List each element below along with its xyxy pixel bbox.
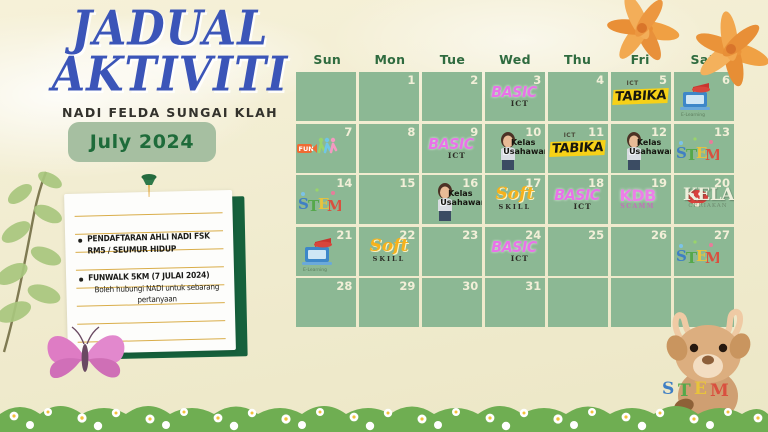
calendar-day-cell-empty: [548, 278, 608, 327]
svg-text:E-Learning: E-Learning: [681, 112, 705, 118]
day-number: 4: [596, 73, 604, 87]
woman-avatar: [612, 130, 656, 170]
mushroom-graphic: [675, 181, 719, 221]
day-number: 12: [651, 125, 667, 139]
calendar-day-cell-13[interactable]: S T E M 13: [674, 124, 734, 173]
calendar-day-cell-2[interactable]: 2: [422, 72, 482, 121]
event-subtitle: SKILL: [363, 255, 415, 263]
weekday-header-sun: Sun: [296, 52, 359, 67]
day-number: 20: [714, 176, 730, 190]
svg-text:M: M: [705, 249, 719, 267]
day-number: 6: [722, 73, 730, 87]
weekday-header-mon: Mon: [359, 52, 422, 67]
calendar-grid: 12BASIC ICT34ICT TABIKA5 E-Learning6 FUN: [296, 72, 734, 327]
note-card: PENDAFTARAN AHLI NADI FSK RM5 / SEUMUR H…: [64, 190, 236, 354]
month-label: July 2024: [90, 131, 194, 153]
day-number: 8: [407, 125, 415, 139]
calendar-day-cell-empty: [674, 278, 734, 327]
calendar-day-cell-28[interactable]: 28: [296, 278, 356, 327]
day-number: 22: [399, 228, 415, 242]
calendar-day-cell-empty: [296, 72, 356, 121]
event-subtitle: ICT: [500, 254, 540, 263]
weekday-header-sat: Sat: [671, 52, 734, 67]
day-number: 9: [470, 125, 478, 139]
event-subtitle: ICT: [500, 99, 540, 108]
calendar-day-cell-31[interactable]: 31: [485, 278, 545, 327]
calendar-day-cell-5[interactable]: ICT TABIKA5: [611, 72, 671, 121]
calendar-day-cell-18[interactable]: BASIC ICT18: [548, 175, 608, 224]
calendar-day-cell-29[interactable]: 29: [359, 278, 419, 327]
day-number: 26: [651, 228, 667, 242]
event-basic-ict: BASIC ICT: [488, 83, 540, 108]
event-subtitle: ICT: [437, 151, 477, 160]
day-number: 3: [533, 73, 541, 87]
note-list: PENDAFTARAN AHLI NADI FSK RM5 / SEUMUR H…: [78, 230, 226, 322]
page-title-line2: AKTIVITI: [30, 52, 310, 99]
event-prefix: ICT: [611, 80, 665, 87]
bullet-icon: [79, 277, 83, 281]
calendar-day-cell-7[interactable]: FUN 7: [296, 124, 356, 173]
note-list-item-subtext: Boleh hubungi NADI untuk sebarang pertan…: [88, 281, 226, 307]
weekday-header-fri: Fri: [609, 52, 672, 67]
note-list-item: FUNWALK 5KM (7 JULAI 2024)Boleh hubungi …: [79, 269, 226, 307]
title-block: JADUAL AKTIVITI NADI FELDA SUNGAI KLAH: [30, 8, 310, 120]
calendar-day-cell-9[interactable]: BASIC ICT9: [422, 124, 482, 173]
calendar-day-cell-24[interactable]: BASIC ICT24: [485, 227, 545, 276]
calendar-day-cell-6[interactable]: E-Learning6: [674, 72, 734, 121]
calendar-day-cell-26[interactable]: 26: [611, 227, 671, 276]
page-title-line1: JADUAL: [30, 5, 310, 52]
woman-avatar: [423, 181, 467, 221]
calendar-day-cell-3[interactable]: BASIC ICT3: [485, 72, 545, 121]
stem-graphic: S T E M: [297, 181, 341, 221]
poster-canvas: JADUAL AKTIVITI NADI FELDA SUNGAI KLAH J…: [0, 0, 768, 432]
calendar-day-cell-25[interactable]: 25: [548, 227, 608, 276]
calendar-day-cell-27[interactable]: S T E M 27: [674, 227, 734, 276]
svg-text:S: S: [662, 379, 674, 399]
day-number: 5: [659, 73, 667, 87]
day-number: 16: [462, 176, 478, 190]
event-title: BASIC: [426, 135, 475, 153]
calendar-day-cell-4[interactable]: 4: [548, 72, 608, 121]
day-number: 15: [399, 176, 415, 190]
day-number: 28: [336, 279, 352, 293]
event-soft-skill: Soft SKILL: [489, 187, 541, 211]
day-number: 2: [470, 73, 478, 87]
event-title: TABIKA: [549, 140, 606, 157]
calendar-day-cell-22[interactable]: Soft SKILL22: [359, 227, 419, 276]
calendar-day-cell-20[interactable]: KELAS CERIAKAN20: [674, 175, 734, 224]
day-number: 25: [588, 228, 604, 242]
svg-text:E-Learning: E-Learning: [303, 267, 327, 273]
event-title: TABIKA: [612, 88, 669, 105]
svg-text:T: T: [678, 381, 691, 401]
calendar-day-cell-15[interactable]: 15: [359, 175, 419, 224]
day-number: 29: [399, 279, 415, 293]
svg-text:M: M: [705, 146, 719, 164]
event-basic-ict: BASIC ICT: [425, 135, 477, 160]
event-ict-tabika: ICT TABIKA: [613, 80, 665, 105]
event-subtitle: SKILL: [489, 203, 541, 211]
calendar: SunMonTueWedThuFriSat 12BASIC ICT34ICT T…: [296, 52, 734, 327]
event-subtitle: SCAMM: [614, 203, 662, 210]
day-number: 30: [462, 279, 478, 293]
day-number: 7: [344, 125, 352, 139]
woman-avatar: [486, 130, 530, 170]
calendar-day-cell-8[interactable]: 8: [359, 124, 419, 173]
day-number: 13: [714, 125, 730, 139]
weekday-header-tue: Tue: [421, 52, 484, 67]
event-title: BASIC: [489, 83, 538, 101]
day-number: 11: [588, 125, 604, 139]
calendar-day-cell-1[interactable]: 1: [359, 72, 419, 121]
day-number: 10: [525, 125, 541, 139]
calendar-day-cell-21[interactable]: E-Learning21: [296, 227, 356, 276]
event-soft-skill: Soft SKILL: [363, 239, 415, 263]
note-list-item-text: PENDAFTARAN AHLI NADI FSK RM5 / SEUMUR H…: [87, 230, 225, 257]
stem-graphic: S T E M: [675, 130, 719, 170]
calendar-day-cell-empty: [611, 278, 671, 327]
day-number: 19: [651, 176, 667, 190]
calendar-day-cell-19[interactable]: KDB SCAMM19: [611, 175, 671, 224]
note-list-item: PENDAFTARAN AHLI NADI FSK RM5 / SEUMUR H…: [78, 230, 225, 257]
day-number: 31: [525, 279, 541, 293]
calendar-day-cell-14[interactable]: S T E M 14: [296, 175, 356, 224]
calendar-day-cell-17[interactable]: Soft SKILL17: [485, 175, 545, 224]
weekday-header-wed: Wed: [484, 52, 547, 67]
elearning-graphic: E-Learning: [297, 233, 341, 273]
day-number: 23: [462, 228, 478, 242]
svg-text:E: E: [694, 379, 707, 399]
calendar-day-cell-12[interactable]: Kelas Usahawan12: [611, 124, 671, 173]
day-number: 1: [407, 73, 415, 87]
calendar-day-cell-23[interactable]: 23: [422, 227, 482, 276]
day-number: 21: [336, 228, 352, 242]
weekday-header-row: SunMonTueWedThuFriSat: [296, 52, 734, 67]
month-badge: July 2024: [68, 122, 216, 162]
elearning-graphic: E-Learning: [675, 78, 719, 118]
day-number: 18: [588, 176, 604, 190]
day-number: 14: [336, 176, 352, 190]
stem-graphic: S T E M: [675, 233, 719, 273]
calendar-day-cell-10[interactable]: Kelas Usahawan10: [485, 124, 545, 173]
day-number: 24: [525, 228, 541, 242]
weekday-header-thu: Thu: [546, 52, 609, 67]
event-subtitle: ICT: [563, 202, 603, 211]
funwalk-graphic: FUN: [297, 130, 341, 170]
calendar-day-cell-11[interactable]: ICT TABIKA11: [548, 124, 608, 173]
svg-text:FUN: FUN: [299, 145, 314, 153]
page-subtitle: NADI FELDA SUNGAI KLAH: [30, 105, 310, 120]
calendar-day-cell-30[interactable]: 30: [422, 278, 482, 327]
note-list-item-text: FUNWALK 5KM (7 JULAI 2024)Boleh hubungi …: [88, 269, 226, 307]
day-number: 17: [525, 176, 541, 190]
day-number: 27: [714, 228, 730, 242]
daisy-meadow-band-icon: [0, 392, 768, 432]
calendar-day-cell-16[interactable]: Kelas Usahawan16: [422, 175, 482, 224]
svg-text:M: M: [327, 197, 341, 215]
bullet-icon: [78, 239, 82, 243]
svg-text:M: M: [710, 381, 729, 401]
